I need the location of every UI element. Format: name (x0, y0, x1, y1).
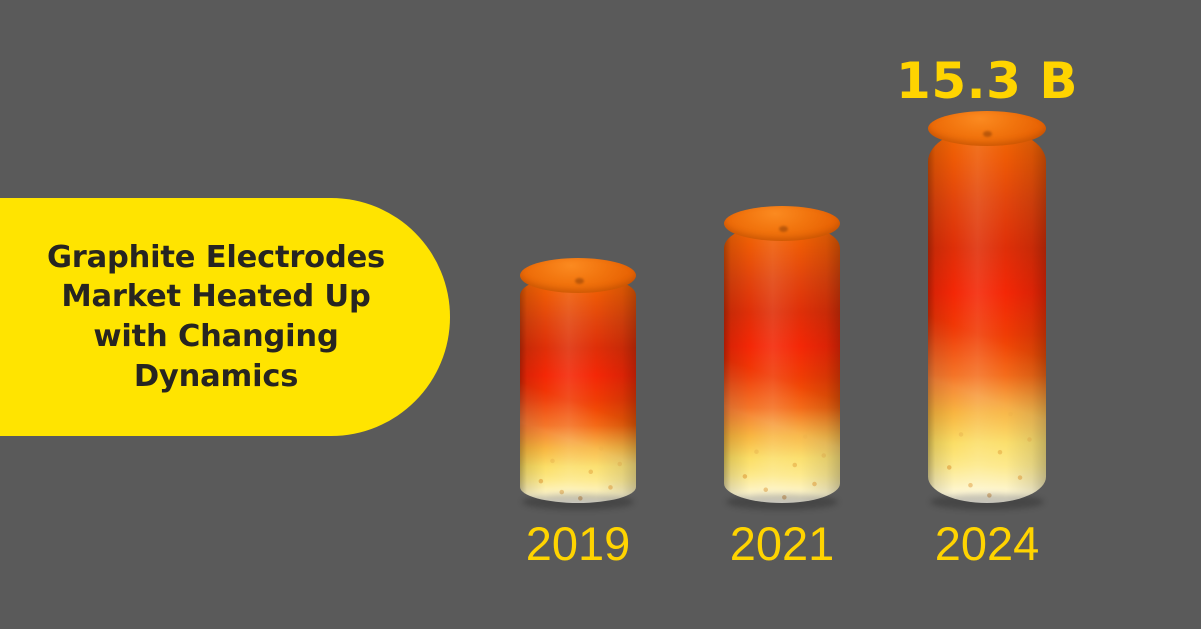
cylinder-base-shadow-2021 (726, 494, 837, 510)
cylinder-body-2019 (520, 275, 636, 503)
bar-2021 (724, 223, 840, 503)
cap-nub-icon (983, 131, 992, 137)
cylinder-top-cap-2019 (520, 258, 636, 293)
bar-chart: 15.3 B 2019 2021 2024 (0, 0, 1201, 629)
cylinder-sheen-2021 (724, 223, 840, 503)
cylinder-base-shadow-2024 (930, 494, 1043, 510)
cylinder-sheen-2024 (928, 128, 1046, 503)
value-label-2024: 15.3 B (878, 56, 1096, 106)
cylinder-body-2021 (724, 223, 840, 503)
cap-nub-icon (575, 278, 584, 284)
cylinder-base-shadow-2019 (522, 494, 633, 510)
category-label-2024: 2024 (898, 520, 1076, 567)
cylinder-top-cap-2024 (928, 111, 1046, 146)
category-label-2019: 2019 (490, 520, 666, 567)
cylinder-sheen-2019 (520, 275, 636, 503)
bar-2024 (928, 128, 1046, 503)
cap-nub-icon (779, 226, 788, 232)
cylinder-body-2024 (928, 128, 1046, 503)
cylinder-top-cap-2021 (724, 206, 840, 241)
category-label-2021: 2021 (694, 520, 870, 567)
bar-2019 (520, 275, 636, 503)
infographic-canvas: Graphite Electrodes Market Heated Up wit… (0, 0, 1201, 629)
